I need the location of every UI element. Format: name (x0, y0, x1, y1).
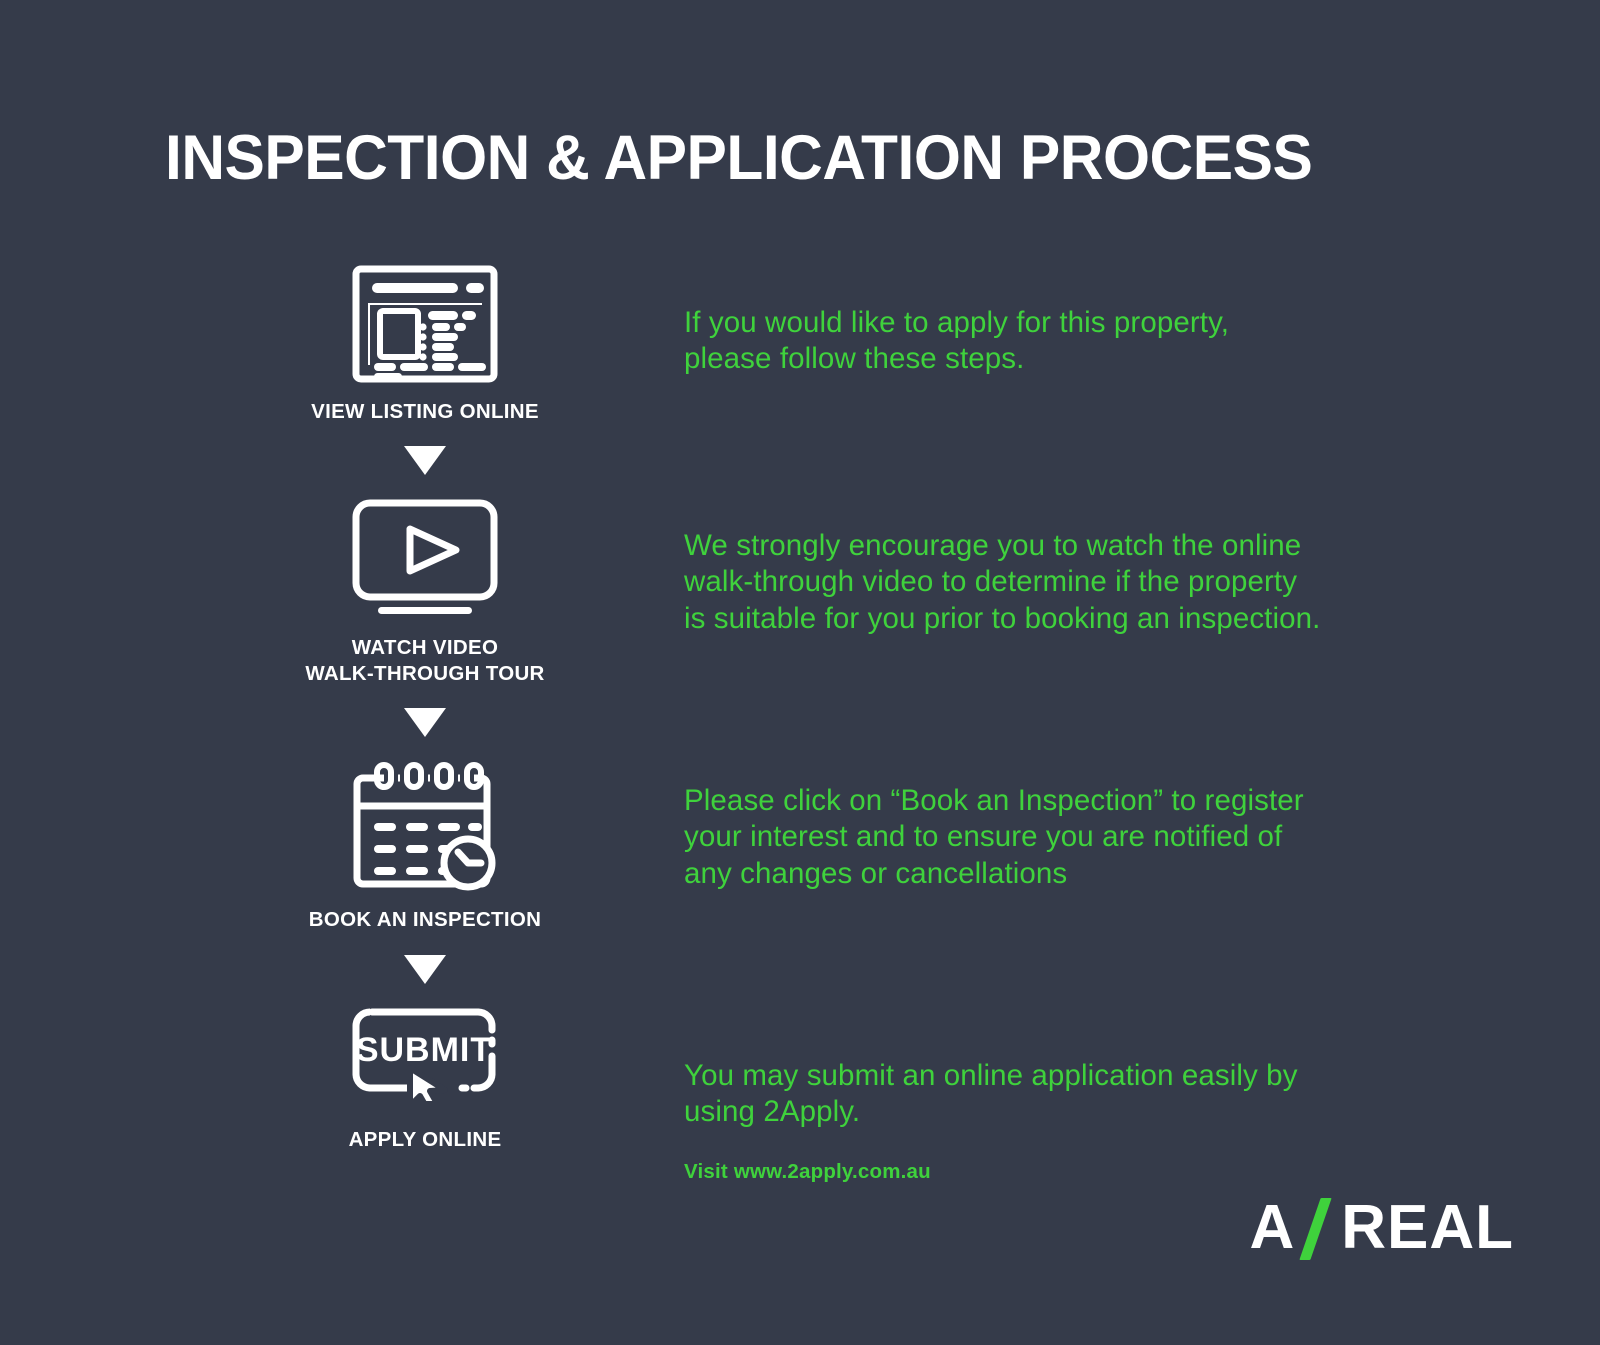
submit-button-cursor-icon: SUBMIT (350, 1006, 500, 1101)
step-book-inspection: BOOK AN INSPECTION (275, 759, 575, 932)
step-label: BOOK AN INSPECTION (309, 907, 541, 932)
flow-arrow-1 (275, 446, 575, 475)
step-copy-view-listing: If you would like to apply for this prop… (684, 305, 1229, 378)
calendar-clock-icon (350, 759, 500, 891)
down-triangle-icon (404, 446, 446, 475)
brand-logo: A REAL (1249, 1196, 1514, 1260)
video-play-monitor-icon (352, 499, 498, 619)
flow-arrow-3 (275, 955, 575, 984)
step-copy-book-inspection: Please click on “Book an Inspection” to … (684, 783, 1304, 892)
infographic-page: INSPECTION & APPLICATION PROCESS (0, 0, 1600, 1345)
step-copy-watch-video: We strongly encourage you to watch the o… (684, 528, 1320, 637)
step-copy-apply-online: You may submit an online application eas… (684, 1058, 1298, 1131)
flow-arrow-2 (275, 708, 575, 737)
step-label: VIEW LISTING ONLINE (311, 399, 539, 424)
visit-link[interactable]: Visit www.2apply.com.au (684, 1160, 931, 1184)
page-title: INSPECTION & APPLICATION PROCESS (165, 122, 1312, 194)
steps-column: VIEW LISTING ONLINE WATCH VIDEO WALK-THR… (275, 265, 575, 1152)
step-label: WATCH VIDEO WALK-THROUGH TOUR (305, 635, 544, 686)
svg-text:SUBMIT: SUBMIT (356, 1031, 492, 1069)
browser-listing-icon (352, 265, 498, 383)
step-view-listing-online: VIEW LISTING ONLINE (275, 265, 575, 424)
down-triangle-icon (404, 955, 446, 984)
step-apply-online: SUBMIT APPLY ONLINE (275, 1006, 575, 1152)
step-watch-video: WATCH VIDEO WALK-THROUGH TOUR (275, 499, 575, 686)
logo-slash-icon (1297, 1197, 1339, 1259)
logo-letter-a: A (1249, 1197, 1295, 1259)
down-triangle-icon (404, 708, 446, 737)
logo-word-real: REAL (1341, 1197, 1514, 1259)
step-label: APPLY ONLINE (349, 1127, 502, 1152)
